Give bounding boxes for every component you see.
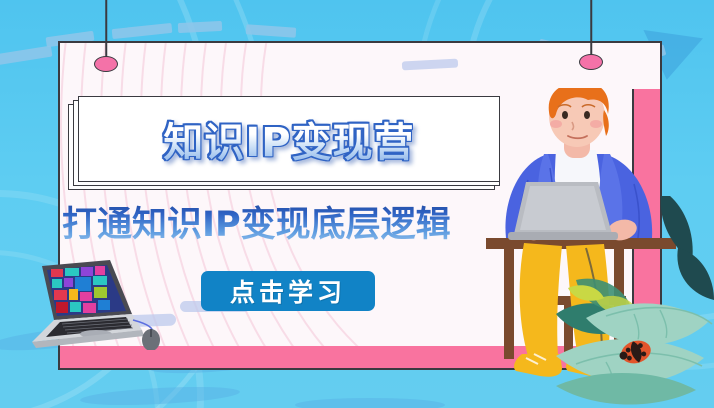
laptop-illustration xyxy=(14,258,164,350)
pin-ball xyxy=(94,56,118,72)
click-to-learn-button[interactable]: 点击学习 xyxy=(201,271,375,311)
promo-banner: 知识IP变现营 打通知识IP变现底层逻辑 点击学习 xyxy=(0,0,714,408)
subtitle: 打通知识IP变现底层逻辑 xyxy=(62,196,512,247)
title-card-front: 知识IP变现营 xyxy=(78,96,500,182)
plants-illustration xyxy=(556,196,714,408)
background-blob xyxy=(295,398,445,408)
pin-wire xyxy=(590,0,592,60)
page-title: 知识IP变现营 xyxy=(163,110,414,168)
pin-wire xyxy=(105,0,107,62)
pin-ball xyxy=(579,54,603,70)
cta-button-label: 点击学习 xyxy=(230,273,346,309)
